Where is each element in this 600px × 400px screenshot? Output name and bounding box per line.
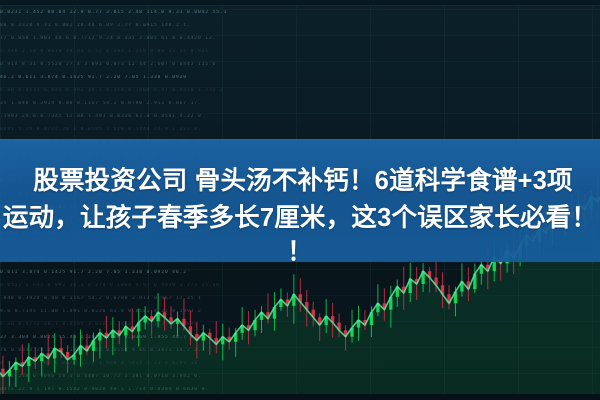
ticker-row: .1993 29.6 0.7345 11.08 1.491 0.0226 63.… [0, 114, 600, 121]
ticker-row: 35 1.048 0.3924 8.80 0.1167 54.2 0.0780 … [0, 101, 600, 108]
ticker-row: 77 0.058 1.903 44.6 0.7712 9.24 0.331 2.… [0, 36, 600, 43]
ticker-row: 08 0.3320 4.71 0.881 20.44 6.09 3.77 0.0… [0, 23, 600, 30]
ticker-row: 0.918 8.31 0.5520 27.4 3.091 0.073 12.44… [0, 62, 600, 69]
banner-image: 0.0231 1.452 88.04 12.9 0.77 3.015 2.48 … [0, 0, 600, 400]
ticker-row: 7.440 2.18 0.0674 19.03 5.52 0.287 1.119… [0, 49, 600, 56]
headline-band [0, 139, 600, 262]
ticker-row: 46.2 0.611 3.874 0.1425 91.7 2.20 7.05 1… [0, 75, 600, 82]
band-sheen [0, 139, 600, 262]
ticker-row: 5.80 0.0531 6.645 0.992 38.1 0.274 0.186… [0, 88, 600, 95]
bottom-strip [0, 394, 600, 400]
ticker-row: 0891 5.36 0.4772 20.1 0.0505 3.618 0.144… [0, 127, 600, 134]
ticker-row: 0.0231 1.452 88.04 12.9 0.77 3.015 2.48 … [0, 10, 600, 17]
